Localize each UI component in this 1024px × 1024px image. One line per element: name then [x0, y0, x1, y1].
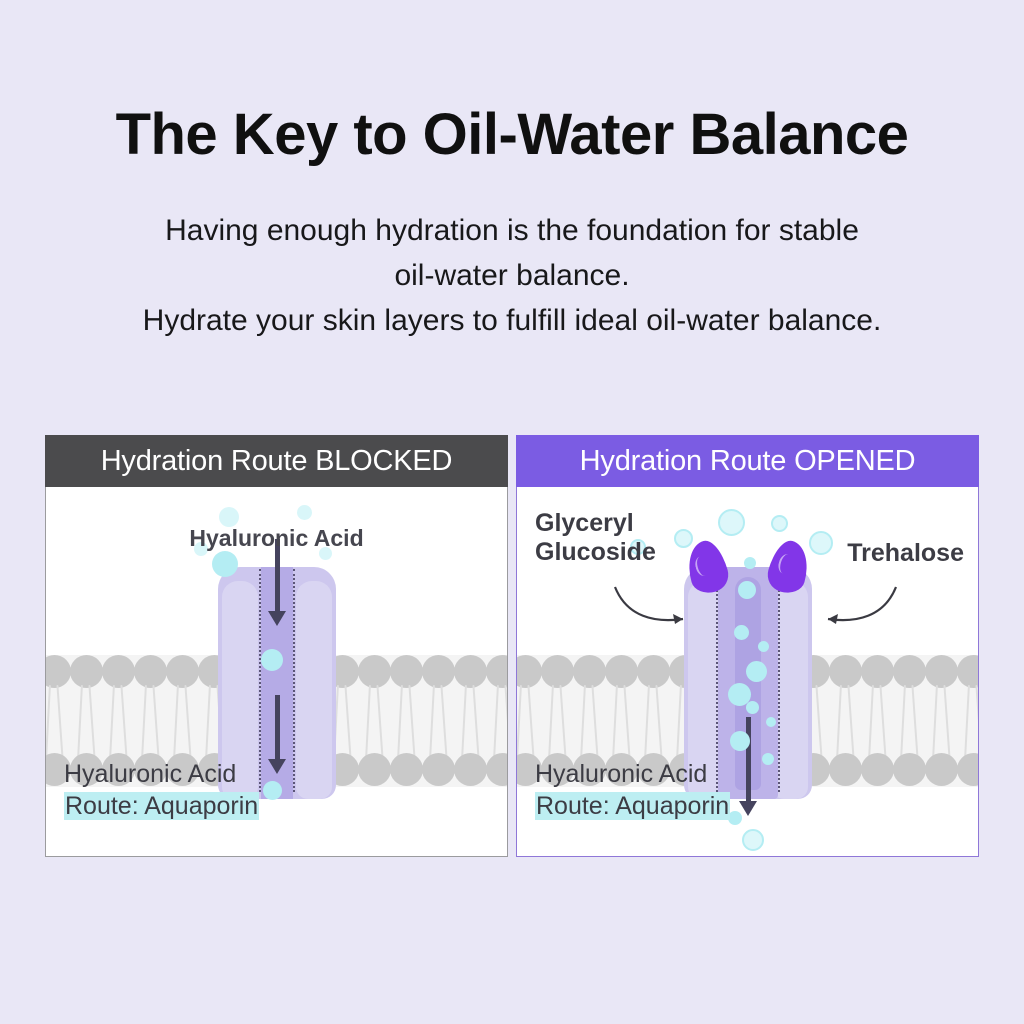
water-molecule	[263, 781, 282, 800]
panel-blocked: Hydration Route BLOCKED	[45, 435, 508, 857]
pore-edge-right	[293, 569, 295, 792]
lipid-tail-pair	[166, 685, 198, 759]
water-molecule	[771, 515, 788, 532]
subtitle-line-2: oil-water balance.	[0, 253, 1024, 298]
trehalose-pointer-arrow	[810, 583, 900, 631]
lipid-head	[893, 753, 926, 786]
subtitle-line-3: Hydrate your skin layers to fulfill idea…	[0, 298, 1024, 343]
lipid-head	[358, 655, 391, 688]
lipid-tail-pair	[45, 685, 70, 759]
lipid-head	[454, 753, 487, 786]
lipid-tail-pair	[454, 685, 486, 759]
lipid-head	[605, 655, 638, 688]
lipid-tail-pair	[957, 685, 979, 759]
water-molecule	[758, 641, 769, 652]
aquaporin-lobe-right	[296, 581, 332, 799]
lipid-head	[486, 753, 508, 786]
lipid-head	[893, 655, 926, 688]
lipid-tail-pair	[358, 685, 390, 759]
lipid-tail-pair	[390, 685, 422, 759]
lipid-tail-pair	[637, 685, 669, 759]
glyceryl-glucoside-label-line-1: Glyceryl	[535, 509, 634, 537]
lipid-head	[45, 655, 71, 688]
comparison-panels: Hydration Route BLOCKED	[45, 435, 979, 859]
caption-line-2-highlight: Route: Aquaporin	[64, 792, 259, 820]
lipid-head	[829, 655, 862, 688]
water-molecule	[809, 531, 833, 555]
panel-opened: Hydration Route OPENED	[516, 435, 979, 857]
lipid-head	[861, 655, 894, 688]
lipid-tail-pair	[925, 685, 957, 759]
water-molecule	[746, 661, 767, 682]
lipid-head	[957, 655, 979, 688]
lipid-head	[573, 655, 606, 688]
lipid-tail-pair	[861, 685, 893, 759]
lipid-head	[422, 655, 455, 688]
panel-opened-body: Glyceryl Glucoside Trehalose Hyaluronic …	[516, 487, 979, 857]
lipid-head	[541, 655, 574, 688]
panel-opened-header: Hydration Route OPENED	[516, 435, 979, 487]
caption-line-2-highlight: Route: Aquaporin	[535, 792, 730, 820]
page-title: The Key to Oil-Water Balance	[0, 0, 1024, 164]
hyaluronic-acid-label: Hyaluronic Acid	[46, 525, 507, 552]
water-molecule	[746, 701, 759, 714]
lipid-head	[166, 655, 199, 688]
water-molecule	[212, 551, 238, 577]
lipid-head	[861, 753, 894, 786]
lipid-tail-pair	[486, 685, 508, 759]
lipid-tail-pair	[422, 685, 454, 759]
subtitle-line-1: Having enough hydration is the foundatio…	[0, 208, 1024, 253]
trehalose-label: Trehalose	[847, 539, 964, 568]
lipid-tail-pair	[573, 685, 605, 759]
lipid-tail-pair	[102, 685, 134, 759]
lipid-head	[925, 655, 958, 688]
water-molecule	[734, 625, 749, 640]
water-molecule	[766, 717, 776, 727]
lipid-head	[134, 655, 167, 688]
water-molecule	[730, 731, 750, 751]
lipid-head	[925, 753, 958, 786]
caption-line-1: Hyaluronic Acid	[64, 760, 236, 788]
panel-blocked-header: Hydration Route BLOCKED	[45, 435, 508, 487]
panel-blocked-caption: Hyaluronic Acid Route: Aquaporin	[64, 758, 259, 822]
lipid-head	[358, 753, 391, 786]
water-molecule	[738, 581, 756, 599]
water-molecule	[219, 507, 239, 527]
lipid-tail-pair	[70, 685, 102, 759]
water-molecule	[261, 649, 283, 671]
hero-section: The Key to Oil-Water Balance Having enou…	[0, 0, 1024, 343]
caption-line-1: Hyaluronic Acid	[535, 760, 707, 788]
water-molecule	[297, 505, 312, 520]
lipid-tail-pair	[516, 685, 541, 759]
water-molecule	[762, 753, 774, 765]
water-molecule	[742, 829, 764, 851]
panel-blocked-body: Hyaluronic Acid Hyaluronic Acid Route: A…	[45, 487, 508, 857]
lipid-head	[390, 753, 423, 786]
lipid-tail-pair	[829, 685, 861, 759]
lipid-tail-pair	[893, 685, 925, 759]
lipid-head	[422, 753, 455, 786]
lipid-tail-pair	[605, 685, 637, 759]
lipid-head	[957, 753, 979, 786]
glyceryl-glucoside-label-line-2: Glucoside	[535, 538, 656, 566]
lipid-head	[102, 655, 135, 688]
lipid-head	[390, 655, 423, 688]
lipid-head	[454, 655, 487, 688]
pore-edge-right	[778, 569, 780, 792]
water-molecule	[674, 529, 693, 548]
water-molecule	[744, 557, 756, 569]
lipid-head	[829, 753, 862, 786]
lipid-tail-pair	[541, 685, 573, 759]
lipid-tail-pair	[134, 685, 166, 759]
lipid-head	[486, 655, 508, 688]
glyceryl-glucoside-label: Glyceryl Glucoside	[535, 509, 656, 567]
lipid-head	[70, 655, 103, 688]
panel-opened-caption: Hyaluronic Acid Route: Aquaporin	[535, 758, 730, 822]
lipid-head	[516, 655, 542, 688]
page-subtitle: Having enough hydration is the foundatio…	[0, 164, 1024, 343]
lipid-head	[637, 655, 670, 688]
water-molecule	[718, 509, 745, 536]
